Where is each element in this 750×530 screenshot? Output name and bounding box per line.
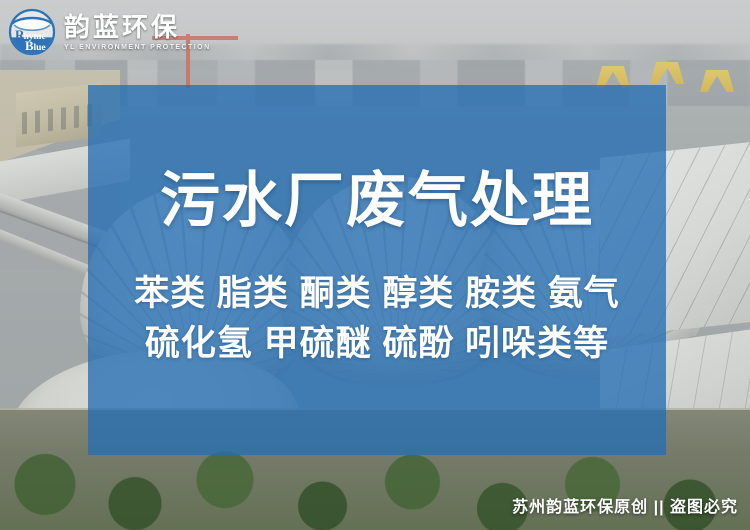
rhyme-blue-logo-icon[interactable]: R hyme B lue — [8, 8, 56, 56]
svg-text:lue: lue — [34, 43, 46, 53]
pollutant-list-line-1: 苯类 脂类 酮类 醇类 胺类 氨气 — [134, 269, 620, 319]
promotional-banner: 污水厂废气处理 苯类 脂类 酮类 醇类 胺类 氨气 硫化氢 甲硫醚 硫酚 吲哚类… — [0, 0, 750, 530]
page-title: 污水厂废气处理 — [160, 171, 594, 231]
brand-name-en: YL ENVIRONMENT PROTECTION — [64, 44, 211, 51]
pollutant-list-line-2: 硫化氢 甲硫醚 硫酚 吲哚类等 — [145, 319, 609, 369]
brand-name-cn: 韵蓝环保 — [64, 14, 211, 40]
copyright-watermark: 苏州韵蓝环保原创 || 盗图必究 — [512, 493, 738, 517]
brand-logo-lockup[interactable]: R hyme B lue 韵蓝环保 YL ENVIRONMENT PROTECT… — [8, 8, 211, 56]
hero-text-block: 污水厂废气处理 苯类 脂类 酮类 醇类 胺类 氨气 硫化氢 甲硫醚 硫酚 吲哚类… — [88, 85, 666, 455]
brand-wordmark: 韵蓝环保 YL ENVIRONMENT PROTECTION — [64, 14, 211, 51]
